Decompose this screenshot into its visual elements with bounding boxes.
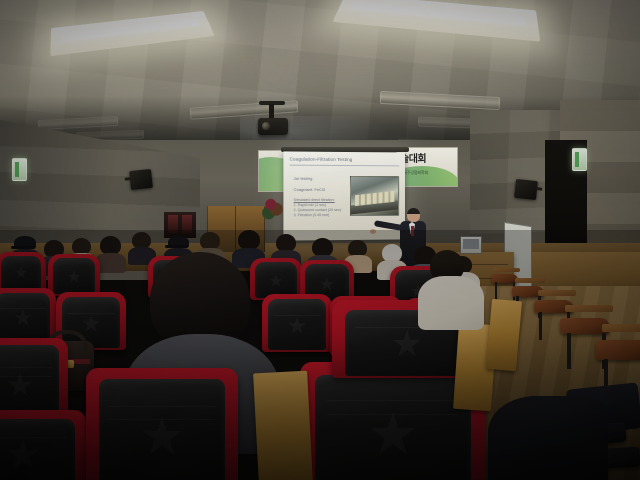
speaker-bracket-icon-right	[536, 187, 542, 191]
seat-tablet-arm-assembly[interactable]	[486, 300, 522, 370]
speaker-bracket-icon-left	[125, 177, 131, 181]
audience-shoulders	[418, 276, 484, 330]
slide-sub-item-3: 3. Filtration (0.45 mm)	[294, 213, 356, 218]
speaker-icon-left	[129, 169, 153, 190]
laptop[interactable]	[460, 236, 482, 254]
slide-body: Jar testing Coagulant: FeCl3 Simulated d…	[294, 174, 356, 219]
laptop-screen	[463, 239, 479, 249]
flower-arrangement	[262, 196, 284, 220]
audio-equipment	[164, 212, 196, 238]
auditorium-seat[interactable]: ★	[0, 410, 86, 480]
audience-head	[238, 230, 260, 250]
slide-photo	[350, 176, 399, 216]
exit-sign-bar-right-icon	[575, 152, 579, 167]
slide-line-1: Jar testing	[294, 176, 356, 182]
auditorium-seat[interactable]: ★	[262, 294, 332, 352]
baseball-cap-icon	[168, 236, 189, 248]
baseball-cap-icon	[14, 236, 36, 249]
presenter-head	[407, 208, 420, 222]
slide-line-2: Coagulant: FeCl3	[294, 186, 356, 192]
presenter-hand	[370, 229, 376, 234]
projector-lens-icon	[262, 122, 270, 130]
conference-banner: 술대회 한국주강협회학회	[396, 147, 458, 187]
exit-sign-icon	[12, 158, 27, 181]
foreground-shoulders-right	[488, 396, 608, 480]
auditorium-seat[interactable]: ★	[86, 368, 238, 480]
speaker-icon-right	[514, 179, 538, 200]
projector-icon	[258, 118, 288, 135]
lecture-hall-photo: 술대회 한국주강협회학회 Coagulation-Filtration Test…	[0, 0, 640, 480]
auditorium-seat[interactable]: ★	[0, 288, 56, 344]
exit-sign-bar-icon	[15, 162, 19, 177]
presenter-tie	[411, 226, 414, 236]
seat-tablet-arm-assembly[interactable]	[250, 372, 316, 480]
exit-sign-right-icon	[572, 148, 587, 171]
slide-title: Coagulation-Filtration Testing	[290, 157, 400, 167]
auditorium-seat[interactable]: ★	[0, 252, 46, 292]
